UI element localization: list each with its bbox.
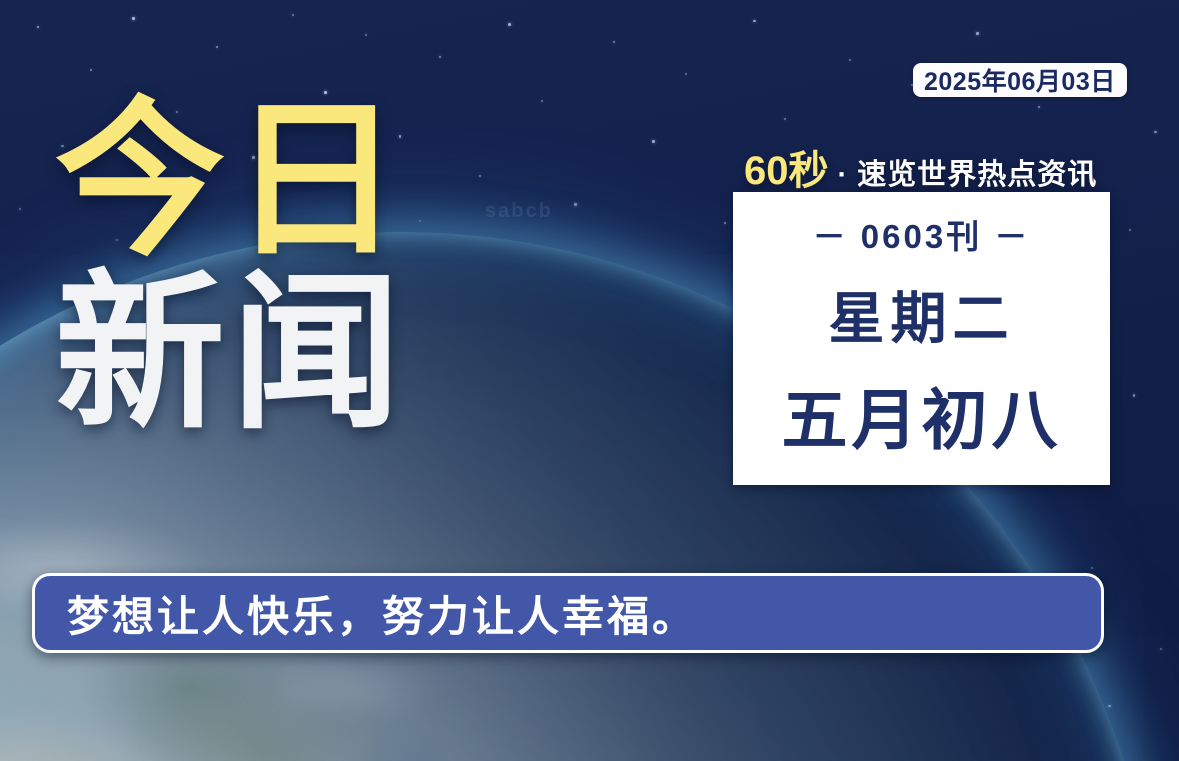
- quote-text: 梦想让人快乐，努力让人幸福。: [67, 583, 697, 644]
- watermark-text: sabcb: [485, 200, 553, 223]
- quote-banner: 梦想让人快乐，努力让人幸福。: [32, 573, 1104, 653]
- lunar-date-label: 五月初八: [782, 367, 1062, 463]
- date-badge-label: 2025年06月03日: [924, 62, 1116, 98]
- page-title: 今日 新闻: [55, 98, 407, 437]
- date-badge: 2025年06月03日: [913, 63, 1127, 97]
- news-poster: sabcb 2025年06月03日 今日 新闻 60秒 · 速览世界热点资讯 －…: [0, 0, 1179, 761]
- tagline: 60秒 · 速览世界热点资讯: [744, 138, 1097, 196]
- tagline-rest: · 速览世界热点资讯: [838, 151, 1098, 193]
- weekday-label: 星期二: [829, 274, 1015, 355]
- page-title-line2: 新闻: [55, 271, 407, 438]
- tagline-seconds: 60秒: [744, 138, 829, 196]
- issue-card: － 0603刊 － 星期二 五月初八: [733, 192, 1110, 485]
- issue-number: － 0603刊 －: [813, 210, 1031, 258]
- page-title-line1: 今日: [55, 98, 407, 265]
